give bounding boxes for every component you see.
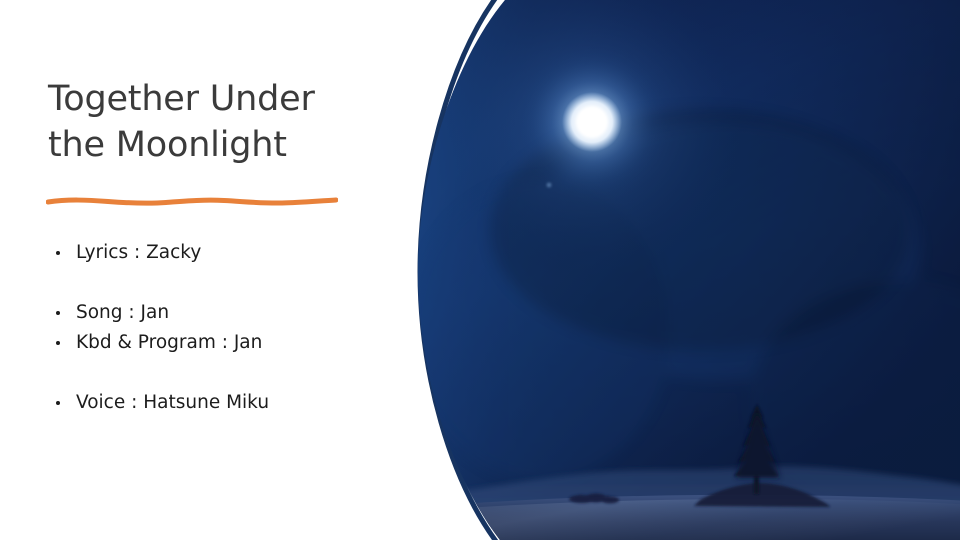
distant-ridge (410, 466, 960, 540)
list-item-label: Song : Jan (76, 302, 169, 323)
tree-mound (694, 483, 830, 507)
list-item: Voice : Hatsune Miku (48, 388, 408, 418)
accent-arc (420, 0, 498, 540)
bullet-dot-icon (56, 251, 60, 255)
snow-field (410, 495, 960, 540)
slide-title: Together Under the Moonlight (48, 76, 388, 168)
bullet-dot-icon (56, 341, 60, 345)
pine-tree-soft (736, 410, 780, 478)
text-column: Together Under the Moonlight Lyrics : Za… (0, 0, 420, 540)
list-item: Kbd & Program : Jan (48, 328, 408, 358)
bullet-dot-icon (56, 401, 60, 405)
orange-wavy-underline (46, 190, 338, 212)
moon-core-bright (577, 107, 607, 137)
moon-halo (514, 44, 670, 200)
credits-list: Lyrics : Zacky Song : Jan Kbd & Program … (48, 238, 408, 418)
presentation-slide: Together Under the Moonlight Lyrics : Za… (0, 0, 960, 540)
list-item: Song : Jan (48, 298, 408, 328)
shrub-cluster (569, 493, 619, 504)
pine-tree (734, 404, 778, 494)
list-item: Lyrics : Zacky (48, 238, 408, 268)
list-item-label: Kbd & Program : Jan (76, 332, 262, 353)
moon (562, 92, 622, 152)
moon-bloom (442, 0, 742, 272)
bullet-dot-icon (56, 311, 60, 315)
list-item-label: Voice : Hatsune Miku (76, 392, 269, 413)
list-item-label: Lyrics : Zacky (76, 242, 201, 263)
moonlit-photo (410, 0, 960, 540)
